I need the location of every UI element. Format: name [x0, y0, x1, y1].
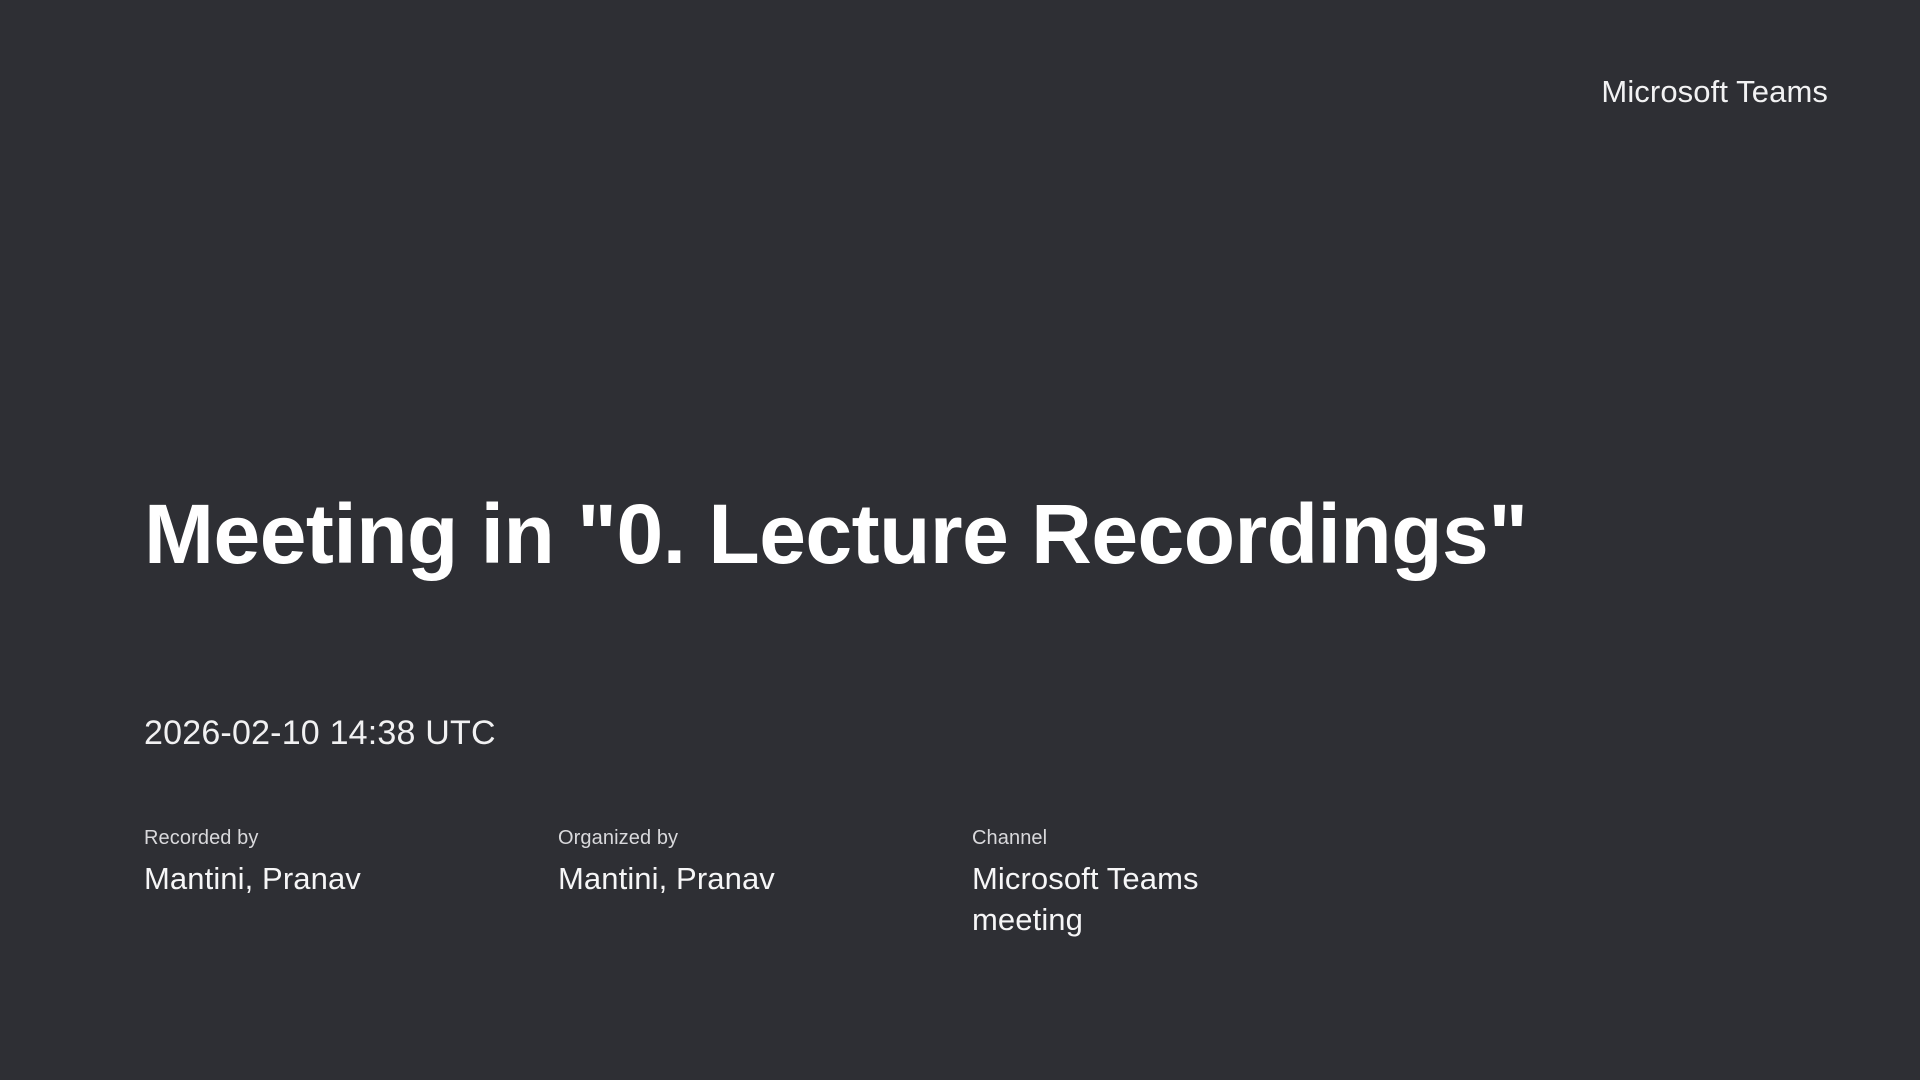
- microsoft-teams-brand-label: Microsoft Teams: [1601, 74, 1828, 110]
- metadata-value-organized-by: Mantini, Pranav: [558, 858, 832, 899]
- metadata-value-recorded-by: Mantini, Pranav: [144, 858, 418, 899]
- metadata-value-channel: Microsoft Teams meeting: [972, 858, 1276, 940]
- metadata-label-organized-by: Organized by: [558, 826, 832, 850]
- page-title: Meeting in "0. Lecture Recordings": [144, 486, 1528, 582]
- metadata-column-channel: Channel Microsoft Teams meeting: [972, 826, 1386, 940]
- metadata-column-organized-by: Organized by Mantini, Pranav: [558, 826, 972, 899]
- metadata-label-recorded-by: Recorded by: [144, 826, 418, 850]
- metadata-column-recorded-by: Recorded by Mantini, Pranav: [144, 826, 558, 899]
- meeting-metadata: Recorded by Mantini, Pranav Organized by…: [144, 826, 1444, 940]
- meeting-datetime: 2026-02-10 14:38 UTC: [144, 712, 496, 754]
- recording-title-card: Microsoft Teams Meeting in "0. Lecture R…: [0, 0, 1920, 1080]
- metadata-label-channel: Channel: [972, 826, 1276, 850]
